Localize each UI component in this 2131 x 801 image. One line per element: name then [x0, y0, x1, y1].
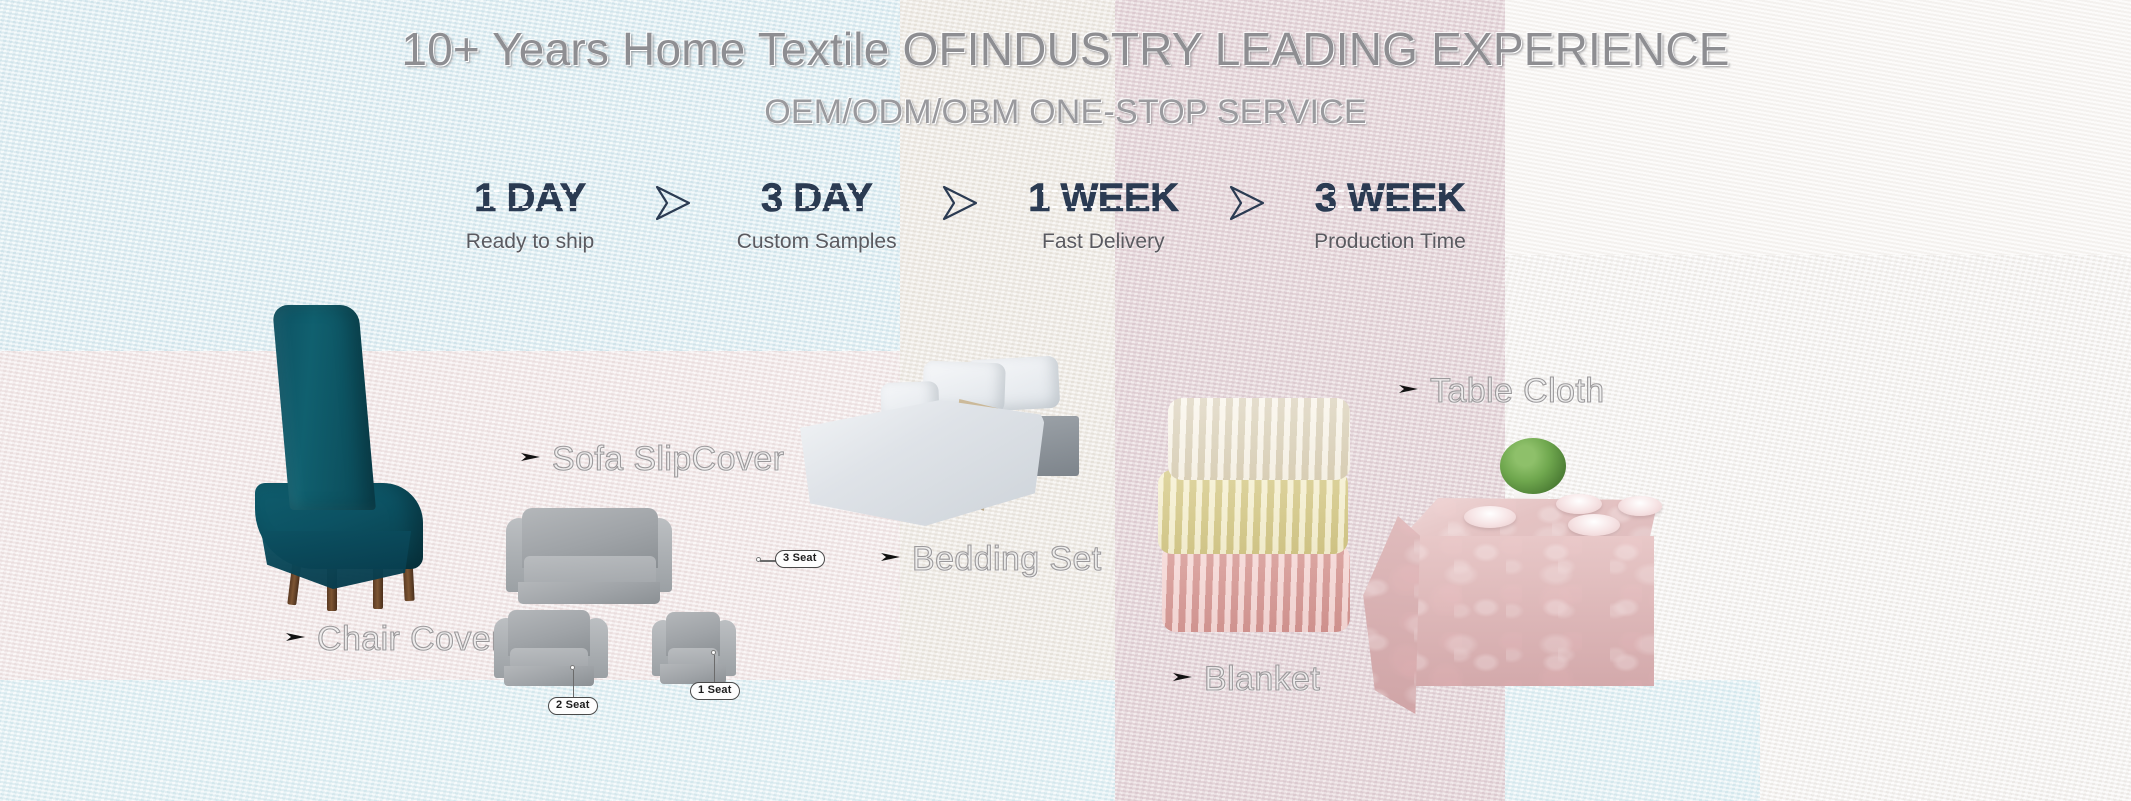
timeline-step-3-day: 3 DAY Custom Samples	[742, 178, 892, 254]
sofa-base	[504, 666, 594, 686]
arrow-right-icon	[880, 547, 908, 572]
product-label-text: Blanket	[1204, 660, 1320, 699]
product-label-chair-cover: Chair Cover	[285, 620, 503, 659]
blanket-texture	[1162, 544, 1350, 632]
product-image-bedding-set	[795, 340, 1105, 540]
blanket-texture	[1168, 398, 1350, 480]
velvet-texture	[1402, 536, 1654, 686]
chevron-right-icon	[643, 178, 703, 223]
timeline-caption: Production Time	[1314, 230, 1466, 254]
timeline-caption: Fast Delivery	[1042, 230, 1165, 254]
arrow-right-icon	[1398, 379, 1426, 404]
banner-headline: 10+ Years Home Textile OFINDUSTRY LEADIN…	[0, 22, 2131, 76]
plant-foliage	[1500, 438, 1566, 494]
callout-line	[760, 560, 776, 562]
chevron-right-icon	[930, 178, 990, 223]
timeline-step-1-day: 1 DAY Ready to ship	[455, 178, 605, 254]
callout-line	[573, 670, 574, 698]
timeline-caption: Ready to ship	[466, 230, 594, 254]
chevron-right-icon	[1217, 178, 1277, 223]
timeline-step-1-week: 1 WEEK Fast Delivery	[1028, 178, 1178, 254]
timeline-duration: 1 WEEK	[1028, 178, 1178, 218]
bowl	[1568, 514, 1620, 536]
blanket-pink	[1162, 544, 1350, 632]
duvet-cover	[795, 400, 1045, 526]
promo-banner: 10+ Years Home Textile OFINDUSTRY LEADIN…	[0, 0, 2131, 801]
timeline-step-3-week: 3 WEEK Production Time	[1315, 178, 1465, 254]
arrow-right-icon	[1172, 667, 1200, 692]
product-label-blanket: Blanket	[1172, 660, 1320, 699]
arrow-right-icon	[520, 447, 548, 472]
blanket-cream	[1168, 398, 1350, 480]
badge-2-seat: 2 Seat	[548, 697, 598, 715]
product-label-sofa-slipcover: Sofa SlipCover	[520, 440, 784, 479]
chair-skirt	[261, 531, 411, 589]
product-image-chair-cover	[255, 305, 445, 605]
chair-back-cover	[272, 305, 376, 510]
tablecloth-front	[1402, 536, 1654, 686]
blanket-yellow	[1158, 470, 1348, 554]
product-label-bedding-set: Bedding Set	[880, 540, 1102, 579]
product-label-text: Table Cloth	[1430, 372, 1605, 411]
blanket-texture	[1158, 470, 1348, 554]
product-label-table-cloth: Table Cloth	[1398, 372, 1605, 411]
timeline-caption: Custom Samples	[737, 230, 897, 254]
banner-subheadline: OEM/ODM/OBM ONE-STOP SERVICE	[0, 93, 2131, 132]
arrow-right-icon	[285, 627, 313, 652]
bowl	[1556, 494, 1602, 514]
product-image-blanket	[1158, 392, 1358, 642]
product-label-text: Bedding Set	[912, 540, 1102, 579]
product-image-sofa-slipcover	[500, 500, 800, 690]
product-label-text: Sofa SlipCover	[552, 440, 784, 479]
timeline-duration: 3 WEEK	[1315, 178, 1465, 218]
product-label-text: Chair Cover	[317, 620, 503, 659]
callout-line	[714, 655, 715, 683]
bowl	[1618, 496, 1662, 516]
service-timeline: 1 DAY Ready to ship 3 DAY Custom Samples…	[455, 178, 1465, 273]
badge-1-seat: 1 Seat	[690, 682, 740, 700]
timeline-duration: 3 DAY	[761, 178, 873, 218]
sofa-base	[660, 664, 726, 684]
bowl	[1464, 506, 1516, 528]
badge-3-seat: 3 Seat	[775, 550, 825, 568]
product-image-table-cloth	[1378, 420, 1698, 730]
timeline-duration: 1 DAY	[474, 178, 586, 218]
sofa-base	[518, 582, 660, 604]
